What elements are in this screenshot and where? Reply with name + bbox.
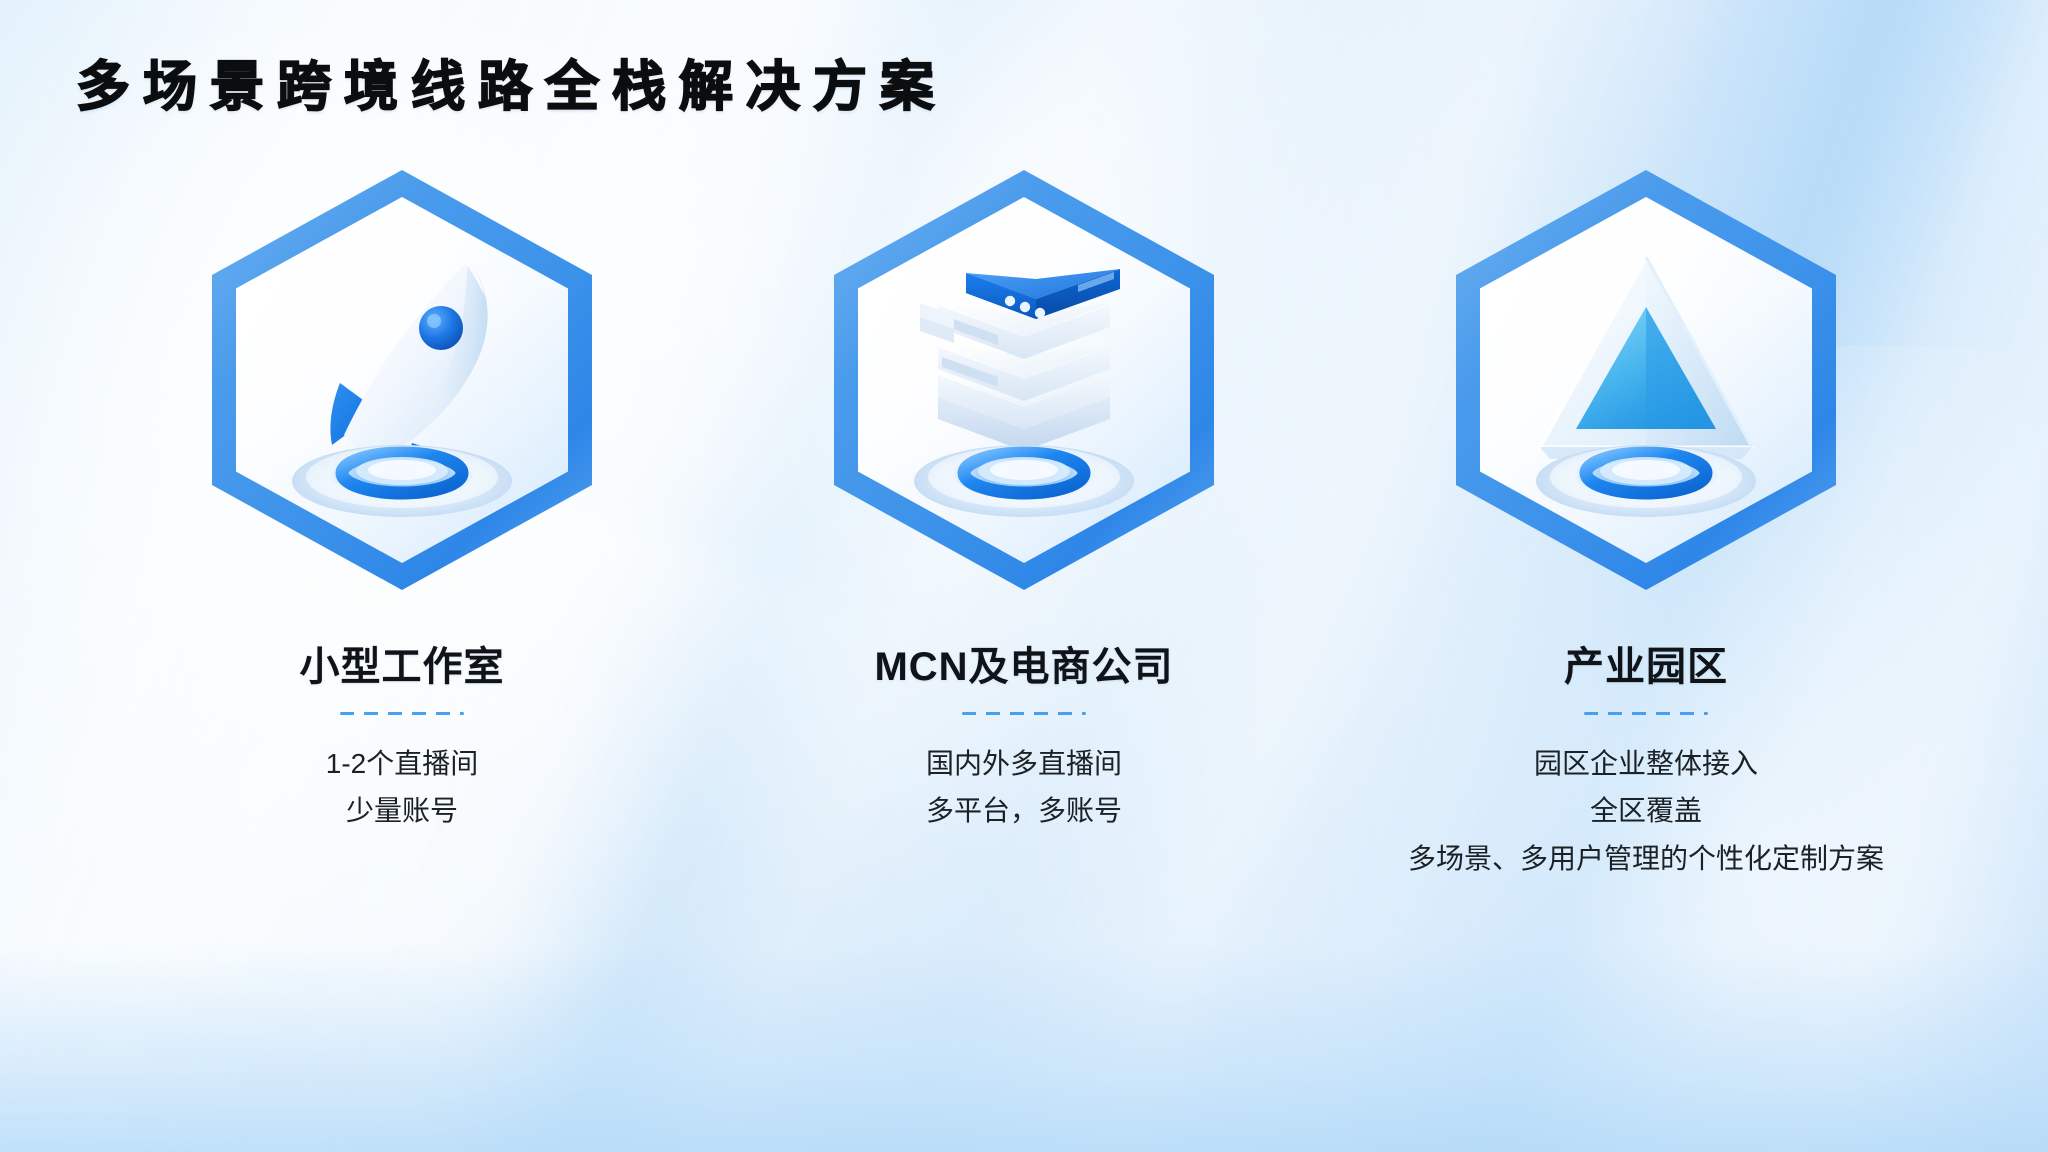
card-divider <box>340 712 464 715</box>
background-bottom-fade <box>0 945 2048 1152</box>
card-divider <box>962 712 1086 715</box>
card-title: 小型工作室 <box>300 634 505 692</box>
card-title: 产业园区 <box>1564 634 1728 692</box>
card-description: 国内外多直播间 多平台，多账号 <box>926 741 1122 836</box>
glow-ring-base <box>1531 425 1761 521</box>
scenario-card: 产业园区 园区企业整体接入 全区覆盖 多场景、多用户管理的个性化定制方案 <box>1396 170 1896 883</box>
hexagon-badge <box>212 170 592 590</box>
card-description-line: 国内外多直播间 <box>926 741 1122 786</box>
hexagon-badge <box>1456 170 1836 590</box>
glow-ring-base <box>287 425 517 521</box>
card-description-line: 多场景、多用户管理的个性化定制方案 <box>1408 836 1884 881</box>
card-description: 园区企业整体接入 全区覆盖 多场景、多用户管理的个性化定制方案 <box>1408 741 1884 883</box>
card-description-line: 全区覆盖 <box>1408 788 1884 833</box>
card-description: 1-2个直播间 少量账号 <box>326 741 478 836</box>
card-description-line: 多平台，多账号 <box>926 788 1122 833</box>
glow-ring-base <box>909 425 1139 521</box>
scenario-card-row: 小型工作室 1-2个直播间 少量账号 <box>0 170 2048 883</box>
card-description-line: 少量账号 <box>326 788 478 833</box>
card-title: MCN及电商公司 <box>874 634 1173 692</box>
scenario-card: 小型工作室 1-2个直播间 少量账号 <box>152 170 652 836</box>
scenario-card: MCN及电商公司 国内外多直播间 多平台，多账号 <box>774 170 1274 836</box>
page-title: 多场景跨境线路全栈解决方案 <box>76 56 947 118</box>
card-description-line: 1-2个直播间 <box>326 741 478 786</box>
hexagon-badge <box>834 170 1214 590</box>
card-divider <box>1584 712 1708 715</box>
card-description-line: 园区企业整体接入 <box>1408 741 1884 786</box>
